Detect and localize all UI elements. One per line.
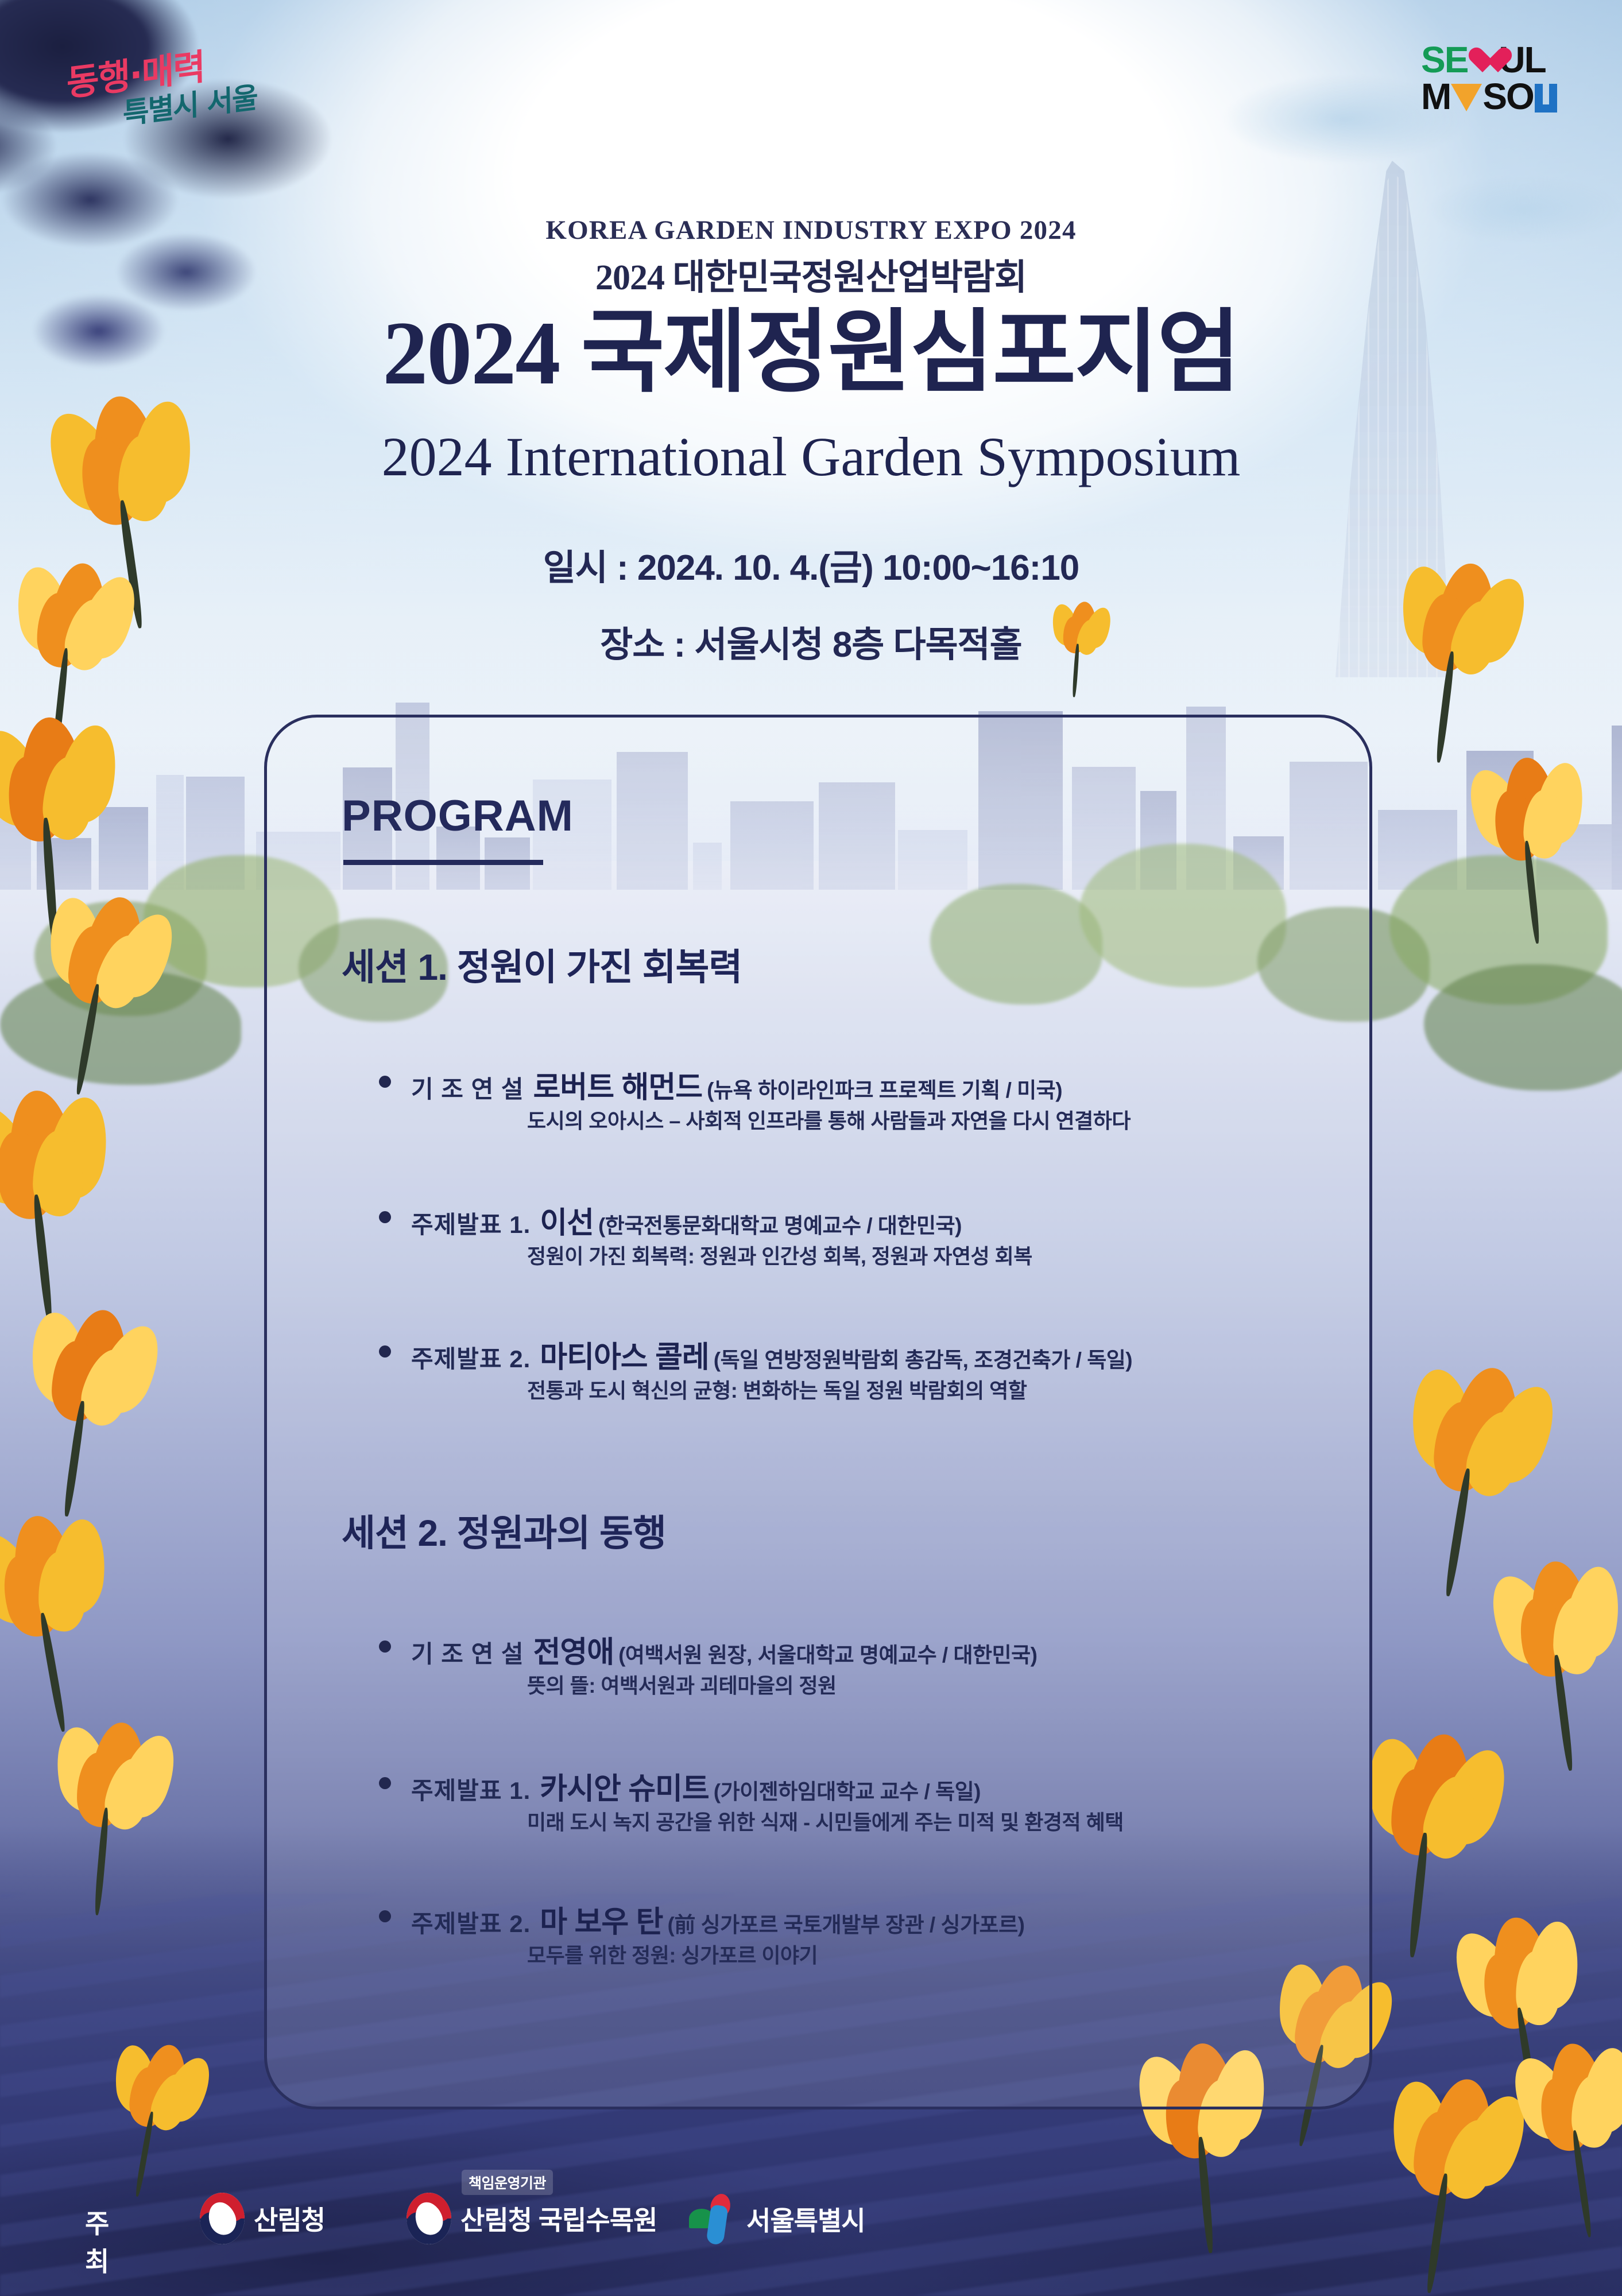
- program-item-role: 주제발표 2.: [411, 1910, 531, 1937]
- poster-root: 동행·매력 특별시 서울 SEUL MSO KOREA GARDEN INDUS…: [0, 0, 1622, 2296]
- session-title-2: 세션 2. 정원과의 동행: [342, 1504, 666, 1557]
- program-item-affiliation: (여백서원 원장, 서울대학교 명예교수 / 대한민국): [618, 1643, 1037, 1667]
- program-heading-underline: [343, 860, 543, 865]
- program-item-subtitle: 도시의 오아시스 – 사회적 인프라를 통해 사람들과 자연을 다시 연결하다: [527, 1104, 1131, 1134]
- page-title: 2024 국제정원심포지엄: [0, 303, 1622, 405]
- session-title-1: 세션 1. 정원이 가진 회복력: [342, 938, 742, 991]
- program-item-headline: 주제발표 1.이선(한국전통문화대학교 명예교수 / 대한민국): [411, 1199, 962, 1242]
- program-item-affiliation: (한국전통문화대학교 명예교수 / 대한민국): [598, 1214, 962, 1238]
- korea-government-emblem-icon: [200, 2193, 245, 2244]
- event-venue: 장소 : 서울시청 8층 다목적홀: [0, 615, 1622, 667]
- program-item-speaker: 전영애: [533, 1636, 614, 1669]
- organizer-2: 산림청 국립수목원책임운영기관: [407, 2193, 657, 2244]
- korea-government-emblem-icon: [407, 2193, 451, 2244]
- bullet-icon: [379, 1777, 391, 1789]
- triangle-icon: [1451, 84, 1482, 111]
- u-bar-icon: [1535, 84, 1561, 113]
- sms-m-text: M: [1421, 76, 1450, 117]
- program-item-affiliation: (가이젠하임대학교 교수 / 독일): [714, 1780, 981, 1804]
- expo-title-kr: 2024 대한민국정원산업박람회: [0, 248, 1622, 300]
- seoul-city-emblem-icon: [688, 2193, 737, 2245]
- program-item-subtitle: 모두를 위한 정원: 싱가포르 이야기: [527, 1939, 818, 1969]
- event-date: 일시 : 2024. 10. 4.(금) 10:00~16:10: [0, 538, 1622, 590]
- program-item-speaker: 카시안 슈미트: [540, 1773, 709, 1806]
- organizer-1: 산림청: [200, 2193, 325, 2244]
- host-label: 주최: [85, 2203, 110, 2279]
- program-item-role: 주제발표 1.: [411, 1211, 531, 1238]
- bullet-icon: [379, 1640, 391, 1653]
- program-item-affiliation: (前 싱가포르 국토개발부 장관 / 싱가포르): [668, 1913, 1025, 1937]
- bullet-icon: [379, 1211, 391, 1223]
- seoul-slogan-logo: 동행·매력 특별시 서울: [60, 33, 250, 131]
- tulip-petal: [1049, 602, 1082, 649]
- organizer-badge: 책임운영기관: [462, 2170, 553, 2195]
- tulip-stem: [1072, 644, 1079, 697]
- tulip-petal: [1069, 601, 1098, 650]
- bullet-icon: [379, 1910, 391, 1922]
- page-title-en: 2024 International Garden Symposium: [0, 425, 1622, 488]
- program-item-subtitle: 뜻의 뜰: 여백서원과 괴테마을의 정원: [527, 1669, 837, 1699]
- program-heading: PROGRAM: [342, 791, 574, 841]
- program-item-headline: 주제발표 2.마티아스 콜레(독일 연방정원박람회 총감독, 조경건축가 / 독…: [411, 1333, 1132, 1376]
- program-item-speaker: 마 보우 탄: [540, 1906, 663, 1939]
- seoul-my-soul-logo: SEUL MSO: [1421, 40, 1570, 121]
- organizer-name: 서울특별시: [746, 2200, 865, 2238]
- sms-line-1: SEUL: [1421, 41, 1546, 78]
- tulip-accent-icon: [1048, 602, 1122, 688]
- organizer-name: 산림청 국립수목원: [460, 2200, 657, 2237]
- tulip-flower: [1045, 599, 1116, 696]
- program-item-headline: 기 조 연 설전영애(여백서원 원장, 서울대학교 명예교수 / 대한민국): [411, 1628, 1037, 1671]
- heart-icon: [1468, 46, 1498, 76]
- organizer-3: 서울특별시: [688, 2193, 865, 2245]
- bullet-icon: [379, 1345, 391, 1358]
- bullet-icon: [379, 1076, 391, 1088]
- tulip-petal: [1074, 618, 1102, 657]
- organizer-name: 산림청: [254, 2200, 325, 2237]
- tulip-petal: [1080, 604, 1116, 652]
- program-item-role: 기 조 연 설: [411, 1640, 524, 1667]
- program-item-headline: 주제발표 1.카시안 슈미트(가이젠하임대학교 교수 / 독일): [411, 1764, 981, 1808]
- program-item-speaker: 로버트 해먼드: [533, 1071, 703, 1104]
- program-item-affiliation: (독일 연방정원박람회 총감독, 조경건축가 / 독일): [714, 1348, 1132, 1372]
- program-item-subtitle: 정원이 가진 회복력: 정원과 인간성 회복, 정원과 자연성 회복: [527, 1240, 1032, 1270]
- expo-title-en: KOREA GARDEN INDUSTRY EXPO 2024: [0, 215, 1622, 246]
- sms-so-text: SO: [1482, 76, 1533, 117]
- program-item-role: 주제발표 1.: [411, 1777, 531, 1804]
- tulip-petal: [1062, 616, 1086, 654]
- program-item-role: 주제발표 2.: [411, 1345, 531, 1372]
- program-item-speaker: 마티아스 콜레: [540, 1341, 709, 1374]
- sms-se-text: SE: [1421, 39, 1468, 80]
- program-item-affiliation: (뉴욕 하이라인파크 프로젝트 기획 / 미국): [707, 1079, 1062, 1102]
- program-item-speaker: 이선: [540, 1207, 594, 1240]
- program-item-headline: 기 조 연 설로버트 해먼드(뉴욕 하이라인파크 프로젝트 기획 / 미국): [411, 1063, 1062, 1106]
- program-item-subtitle: 미래 도시 녹지 공간을 위한 식재 - 시민들에게 주는 미적 및 환경적 혜…: [527, 1806, 1124, 1836]
- program-item-headline: 주제발표 2.마 보우 탄(前 싱가포르 국토개발부 장관 / 싱가포르): [411, 1898, 1024, 1941]
- sms-line-2: MSO: [1421, 78, 1562, 115]
- program-item-subtitle: 전통과 도시 혁신의 균형: 변화하는 독일 정원 박람회의 역할: [527, 1374, 1027, 1404]
- program-item-role: 기 조 연 설: [411, 1076, 524, 1103]
